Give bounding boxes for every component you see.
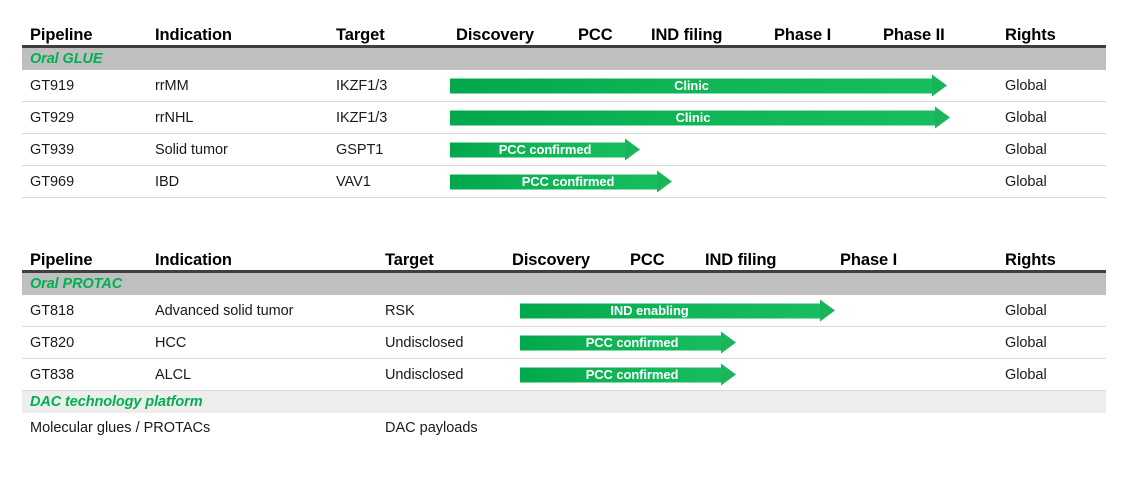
column-header-pipeline: Pipeline: [30, 26, 92, 45]
column-header-pipeline: Pipeline: [30, 251, 92, 270]
section-band-dac-platform: DAC technology platform: [22, 391, 1106, 413]
bar-label: PCC confirmed: [460, 143, 630, 156]
cell-target: Undisclosed: [385, 335, 463, 351]
cell-target: IKZF1/3: [336, 110, 387, 126]
table-row[interactable]: GT929 rrNHL IKZF1/3 Clinic Global: [22, 102, 1106, 134]
column-header-discovery: Discovery: [456, 26, 534, 45]
table-row[interactable]: GT969 IBD VAV1 PCC confirmed Global: [22, 166, 1106, 198]
cell-pipeline: GT939: [30, 142, 74, 158]
cell-indication: IBD: [155, 174, 179, 190]
cell-rights: Global: [1005, 142, 1047, 158]
dac-platform-row: Molecular glues / PROTACs DAC payloads: [22, 413, 1106, 443]
bar-label: Clinic: [450, 111, 936, 124]
bar-arrowhead-icon: [820, 300, 835, 322]
column-header-ind-filing: IND filing: [651, 26, 722, 45]
cell-target: IKZF1/3: [336, 78, 387, 94]
section-label-oral-protac: Oral PROTAC: [30, 276, 122, 292]
progress-bar-clinic[interactable]: Clinic: [450, 110, 950, 125]
section-label-oral-glue: Oral GLUE: [30, 51, 102, 67]
dac-mid-text: DAC payloads: [385, 420, 478, 436]
column-header-phase-1: Phase I: [774, 26, 831, 45]
cell-indication: HCC: [155, 335, 186, 351]
column-header-pcc: PCC: [578, 26, 613, 45]
cell-indication: Solid tumor: [155, 142, 228, 158]
bar-label: PCC confirmed: [538, 336, 726, 349]
cell-pipeline: GT919: [30, 78, 74, 94]
column-header-ind-filing: IND filing: [705, 251, 776, 270]
dac-left-text: Molecular glues / PROTACs: [30, 420, 210, 436]
pipeline-chart-page: Pipeline Indication Target Discovery PCC…: [0, 0, 1128, 483]
column-header-target: Target: [336, 26, 385, 45]
cell-pipeline: GT969: [30, 174, 74, 190]
section-label-dac-platform: DAC technology platform: [30, 394, 203, 410]
column-header-rights: Rights: [1005, 26, 1056, 45]
section-band-oral-protac: Oral PROTAC: [22, 273, 1106, 295]
cell-indication: rrNHL: [155, 110, 193, 126]
column-header-phase-2: Phase II: [883, 26, 945, 45]
cell-pipeline: GT838: [30, 367, 74, 383]
cell-indication: rrMM: [155, 78, 189, 94]
cell-rights: Global: [1005, 174, 1047, 190]
column-header-target: Target: [385, 251, 434, 270]
cell-target: RSK: [385, 303, 415, 319]
progress-bar-pcc-confirmed[interactable]: PCC confirmed: [450, 142, 640, 157]
table-row[interactable]: GT919 rrMM IKZF1/3 Clinic Global: [22, 70, 1106, 102]
cell-target: Undisclosed: [385, 367, 463, 383]
progress-bar-clinic[interactable]: Clinic: [450, 78, 947, 93]
section-band-oral-glue: Oral GLUE: [22, 48, 1106, 70]
table-row[interactable]: GT939 Solid tumor GSPT1 PCC confirmed Gl…: [22, 134, 1106, 166]
progress-bar-pcc-confirmed[interactable]: PCC confirmed: [450, 174, 672, 189]
cell-rights: Global: [1005, 110, 1047, 126]
bar-label: PCC confirmed: [538, 368, 726, 381]
cell-pipeline: GT820: [30, 335, 74, 351]
bar-arrowhead-icon: [935, 107, 950, 129]
column-header-indication: Indication: [155, 251, 232, 270]
cell-target: GSPT1: [336, 142, 383, 158]
column-header-indication: Indication: [155, 26, 232, 45]
table-row[interactable]: GT818 Advanced solid tumor RSK IND enabl…: [22, 295, 1106, 327]
column-header-rights: Rights: [1005, 251, 1056, 270]
cell-target: VAV1: [336, 174, 371, 190]
protac-pipeline-table: Pipeline Indication Target Discovery PCC…: [22, 243, 1106, 443]
progress-bar-pcc-confirmed[interactable]: PCC confirmed: [520, 335, 736, 350]
table-row[interactable]: GT838 ALCL Undisclosed PCC confirmed Glo…: [22, 359, 1106, 391]
cell-pipeline: GT818: [30, 303, 74, 319]
glue-pipeline-table: Pipeline Indication Target Discovery PCC…: [22, 18, 1106, 198]
table-row[interactable]: GT820 HCC Undisclosed PCC confirmed Glob…: [22, 327, 1106, 359]
cell-indication: Advanced solid tumor: [155, 303, 293, 319]
glue-table-header-row: Pipeline Indication Target Discovery PCC…: [22, 18, 1106, 48]
column-header-pcc: PCC: [630, 251, 665, 270]
cell-pipeline: GT929: [30, 110, 74, 126]
protac-table-header-row: Pipeline Indication Target Discovery PCC…: [22, 243, 1106, 273]
cell-indication: ALCL: [155, 367, 191, 383]
column-header-phase-1: Phase I: [840, 251, 897, 270]
bar-arrowhead-icon: [932, 75, 947, 97]
bar-label: PCC confirmed: [472, 175, 664, 188]
cell-rights: Global: [1005, 78, 1047, 94]
bar-label: Clinic: [450, 79, 933, 92]
cell-rights: Global: [1005, 335, 1047, 351]
cell-rights: Global: [1005, 367, 1047, 383]
bar-label: IND enabling: [520, 304, 779, 317]
progress-bar-pcc-confirmed[interactable]: PCC confirmed: [520, 367, 736, 382]
column-header-discovery: Discovery: [512, 251, 590, 270]
progress-bar-ind-enabling[interactable]: IND enabling: [520, 303, 835, 318]
cell-rights: Global: [1005, 303, 1047, 319]
